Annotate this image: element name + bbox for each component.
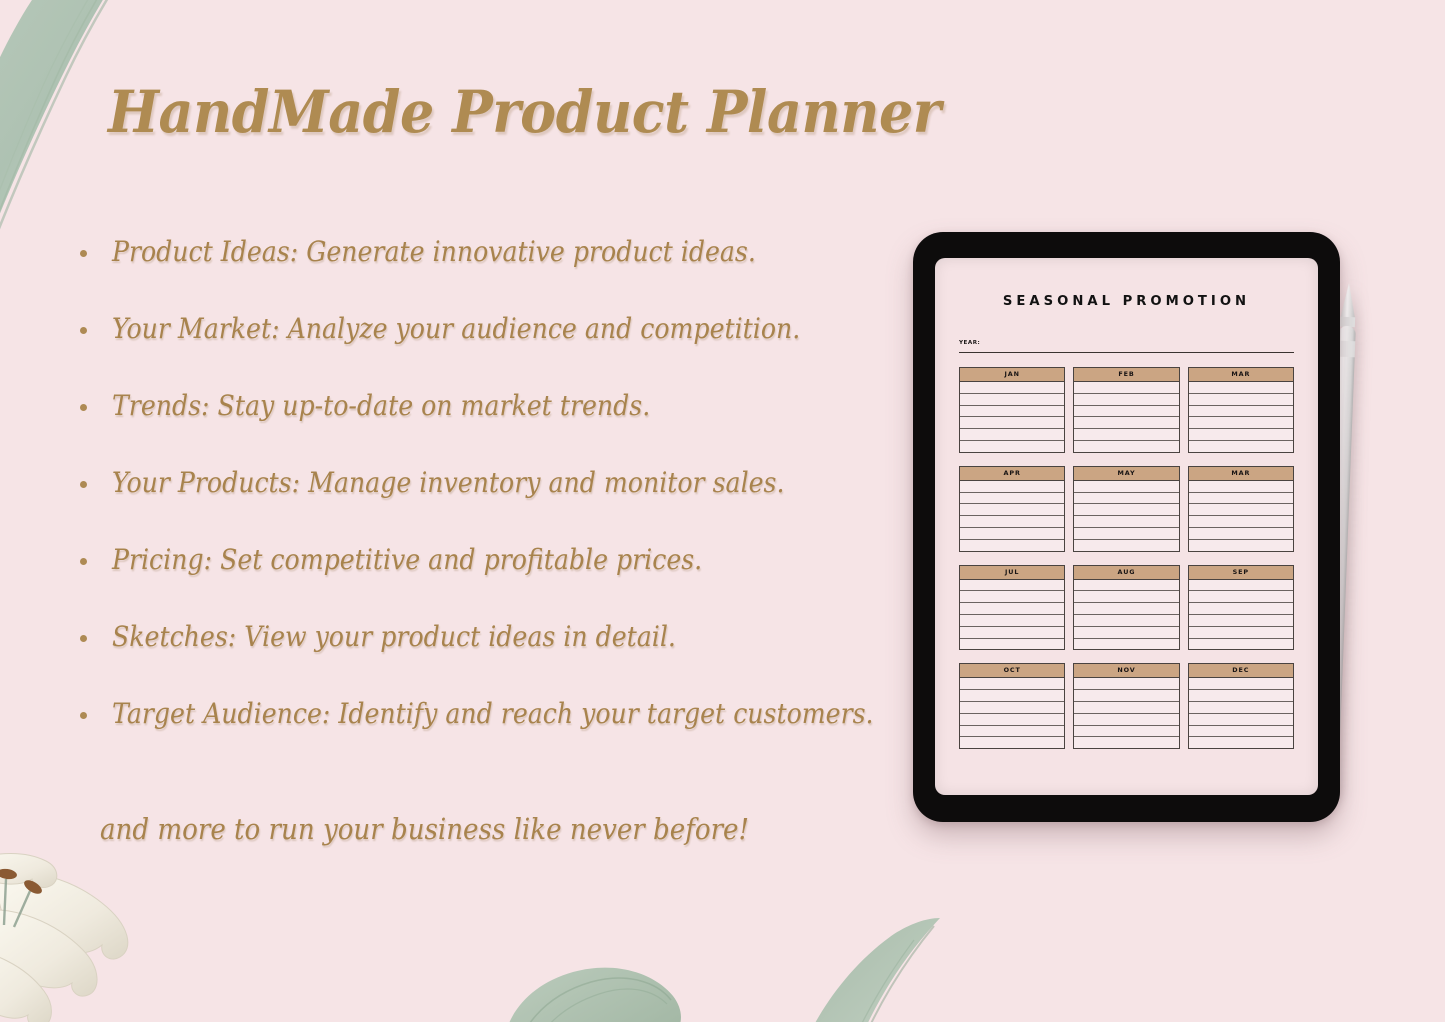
- note-row[interactable]: [960, 540, 1064, 551]
- feature-list: Product Ideas: Generate innovative produ…: [74, 214, 884, 753]
- note-row[interactable]: [960, 528, 1064, 540]
- month-grid: JAN FEB: [959, 367, 1294, 749]
- note-row[interactable]: [1189, 615, 1293, 627]
- month-rows[interactable]: [1189, 580, 1293, 650]
- list-item-label: Product Ideas: Generate innovative produ…: [112, 237, 756, 268]
- bullet-dot-icon: [80, 327, 87, 334]
- month-block[interactable]: MAR: [1188, 367, 1294, 453]
- note-row[interactable]: [960, 627, 1064, 639]
- note-row[interactable]: [1189, 382, 1293, 394]
- note-row[interactable]: [960, 429, 1064, 441]
- month-block[interactable]: JAN: [959, 367, 1065, 453]
- note-row[interactable]: [960, 441, 1064, 452]
- note-row[interactable]: [960, 737, 1064, 748]
- month-label: JUL: [960, 566, 1064, 580]
- month-rows[interactable]: [960, 382, 1064, 452]
- tablet-device: SEASONAL PROMOTION YEAR: JAN: [913, 232, 1340, 822]
- list-item: Target Audience: Identify and reach your…: [74, 676, 884, 753]
- list-item-label: Target Audience: Identify and reach your…: [112, 699, 874, 730]
- note-row[interactable]: [1074, 429, 1178, 441]
- month-rows[interactable]: [1074, 481, 1178, 551]
- month-block[interactable]: FEB: [1073, 367, 1179, 453]
- month-label: DEC: [1189, 664, 1293, 678]
- lily-flower-icon: [0, 845, 220, 1022]
- note-row[interactable]: [1074, 406, 1178, 418]
- note-row[interactable]: [1189, 627, 1293, 639]
- month-rows[interactable]: [1074, 580, 1178, 650]
- month-label: MAY: [1074, 467, 1178, 481]
- month-label: NOV: [1074, 664, 1178, 678]
- footer-note: and more to run your business like never…: [100, 812, 749, 846]
- leaf-icon: [790, 910, 980, 1022]
- year-field[interactable]: YEAR:: [959, 331, 1294, 353]
- note-row[interactable]: [960, 493, 1064, 505]
- list-item-label: Pricing: Set competitive and profitable …: [112, 545, 702, 576]
- note-row[interactable]: [1074, 603, 1178, 615]
- note-row[interactable]: [960, 504, 1064, 516]
- promo-page: HandMade Product Planner Product Ideas: …: [0, 0, 1445, 1022]
- note-row[interactable]: [1074, 504, 1178, 516]
- month-block[interactable]: JUL: [959, 565, 1065, 651]
- month-rows[interactable]: [960, 481, 1064, 551]
- list-item: Sketches: View your product ideas in det…: [74, 599, 884, 676]
- note-row[interactable]: [1074, 493, 1178, 505]
- note-row[interactable]: [1074, 528, 1178, 540]
- month-block[interactable]: DEC: [1188, 663, 1294, 749]
- note-row[interactable]: [960, 406, 1064, 418]
- note-row[interactable]: [1074, 627, 1178, 639]
- note-row[interactable]: [1074, 580, 1178, 592]
- note-row[interactable]: [960, 417, 1064, 429]
- month-rows[interactable]: [1189, 678, 1293, 748]
- note-row[interactable]: [960, 591, 1064, 603]
- planner-title: SEASONAL PROMOTION: [957, 294, 1296, 309]
- leaf-icon: [495, 930, 735, 1022]
- month-rows[interactable]: [960, 580, 1064, 650]
- note-row[interactable]: [1074, 690, 1178, 702]
- note-row[interactable]: [1189, 580, 1293, 592]
- note-row[interactable]: [1189, 429, 1293, 441]
- list-item: Pricing: Set competitive and profitable …: [74, 522, 884, 599]
- note-row[interactable]: [1074, 394, 1178, 406]
- list-item-label: Your Products: Manage inventory and moni…: [112, 468, 784, 499]
- month-block[interactable]: MAR: [1188, 466, 1294, 552]
- note-row[interactable]: [1074, 714, 1178, 726]
- note-row[interactable]: [960, 690, 1064, 702]
- list-item-label: Your Market: Analyze your audience and c…: [112, 314, 800, 345]
- note-row[interactable]: [1189, 528, 1293, 540]
- tablet-screen[interactable]: SEASONAL PROMOTION YEAR: JAN: [935, 258, 1318, 795]
- month-label: OCT: [960, 664, 1064, 678]
- note-row[interactable]: [1074, 540, 1178, 551]
- month-rows[interactable]: [1074, 382, 1178, 452]
- note-row[interactable]: [1189, 504, 1293, 516]
- note-row[interactable]: [960, 714, 1064, 726]
- month-block[interactable]: NOV: [1073, 663, 1179, 749]
- note-row[interactable]: [1189, 441, 1293, 452]
- note-row[interactable]: [960, 516, 1064, 528]
- note-row[interactable]: [1189, 591, 1293, 603]
- note-row[interactable]: [960, 603, 1064, 615]
- bullet-dot-icon: [80, 250, 87, 257]
- note-row[interactable]: [1074, 417, 1178, 429]
- note-row[interactable]: [1189, 394, 1293, 406]
- note-row[interactable]: [1189, 737, 1293, 748]
- note-row[interactable]: [1189, 603, 1293, 615]
- month-rows[interactable]: [1189, 382, 1293, 452]
- note-row[interactable]: [1189, 702, 1293, 714]
- note-row[interactable]: [960, 678, 1064, 690]
- note-row[interactable]: [960, 382, 1064, 394]
- note-row[interactable]: [1074, 639, 1178, 650]
- note-row[interactable]: [960, 639, 1064, 650]
- page-title: HandMade Product Planner: [108, 78, 941, 146]
- list-item-label: Trends: Stay up-to-date on market trends…: [112, 391, 650, 422]
- month-label: MAR: [1189, 368, 1293, 382]
- list-item: Your Products: Manage inventory and moni…: [74, 445, 884, 522]
- note-row[interactable]: [1189, 678, 1293, 690]
- note-row[interactable]: [1074, 702, 1178, 714]
- note-row[interactable]: [1189, 540, 1293, 551]
- note-row[interactable]: [1189, 417, 1293, 429]
- list-item: Trends: Stay up-to-date on market trends…: [74, 368, 884, 445]
- note-row[interactable]: [1074, 441, 1178, 452]
- note-row[interactable]: [1189, 714, 1293, 726]
- bullet-dot-icon: [80, 481, 87, 488]
- note-row[interactable]: [960, 615, 1064, 627]
- year-label: YEAR:: [959, 340, 980, 346]
- month-rows[interactable]: [960, 678, 1064, 748]
- note-row[interactable]: [1074, 516, 1178, 528]
- note-row[interactable]: [1189, 406, 1293, 418]
- note-row[interactable]: [1074, 678, 1178, 690]
- note-row[interactable]: [960, 481, 1064, 493]
- bullet-dot-icon: [80, 712, 87, 719]
- note-row[interactable]: [1189, 639, 1293, 650]
- note-row[interactable]: [1189, 516, 1293, 528]
- month-rows[interactable]: [1189, 481, 1293, 551]
- month-block[interactable]: MAY: [1073, 466, 1179, 552]
- month-block[interactable]: APR: [959, 466, 1065, 552]
- note-row[interactable]: [1189, 481, 1293, 493]
- note-row[interactable]: [1074, 382, 1178, 394]
- note-row[interactable]: [1074, 591, 1178, 603]
- month-label: SEP: [1189, 566, 1293, 580]
- note-row[interactable]: [1074, 726, 1178, 738]
- month-label: APR: [960, 467, 1064, 481]
- note-row[interactable]: [1074, 481, 1178, 493]
- note-row[interactable]: [960, 726, 1064, 738]
- bullet-dot-icon: [80, 558, 87, 565]
- list-item: Your Market: Analyze your audience and c…: [74, 291, 884, 368]
- month-label: AUG: [1074, 566, 1178, 580]
- seasonal-promotion-planner: SEASONAL PROMOTION YEAR: JAN: [935, 258, 1318, 795]
- note-row[interactable]: [1189, 690, 1293, 702]
- note-row[interactable]: [1189, 726, 1293, 738]
- bullet-dot-icon: [80, 635, 87, 642]
- list-item-label: Sketches: View your product ideas in det…: [112, 622, 676, 653]
- month-label: FEB: [1074, 368, 1178, 382]
- month-rows[interactable]: [1074, 678, 1178, 748]
- note-row[interactable]: [960, 394, 1064, 406]
- month-block[interactable]: SEP: [1188, 565, 1294, 651]
- note-row[interactable]: [960, 580, 1064, 592]
- note-row[interactable]: [1074, 615, 1178, 627]
- note-row[interactable]: [1189, 493, 1293, 505]
- month-block[interactable]: OCT: [959, 663, 1065, 749]
- bullet-dot-icon: [80, 404, 87, 411]
- note-row[interactable]: [960, 702, 1064, 714]
- month-label: JAN: [960, 368, 1064, 382]
- note-row[interactable]: [1074, 737, 1178, 748]
- month-label: MAR: [1189, 467, 1293, 481]
- list-item: Product Ideas: Generate innovative produ…: [74, 214, 884, 291]
- month-block[interactable]: AUG: [1073, 565, 1179, 651]
